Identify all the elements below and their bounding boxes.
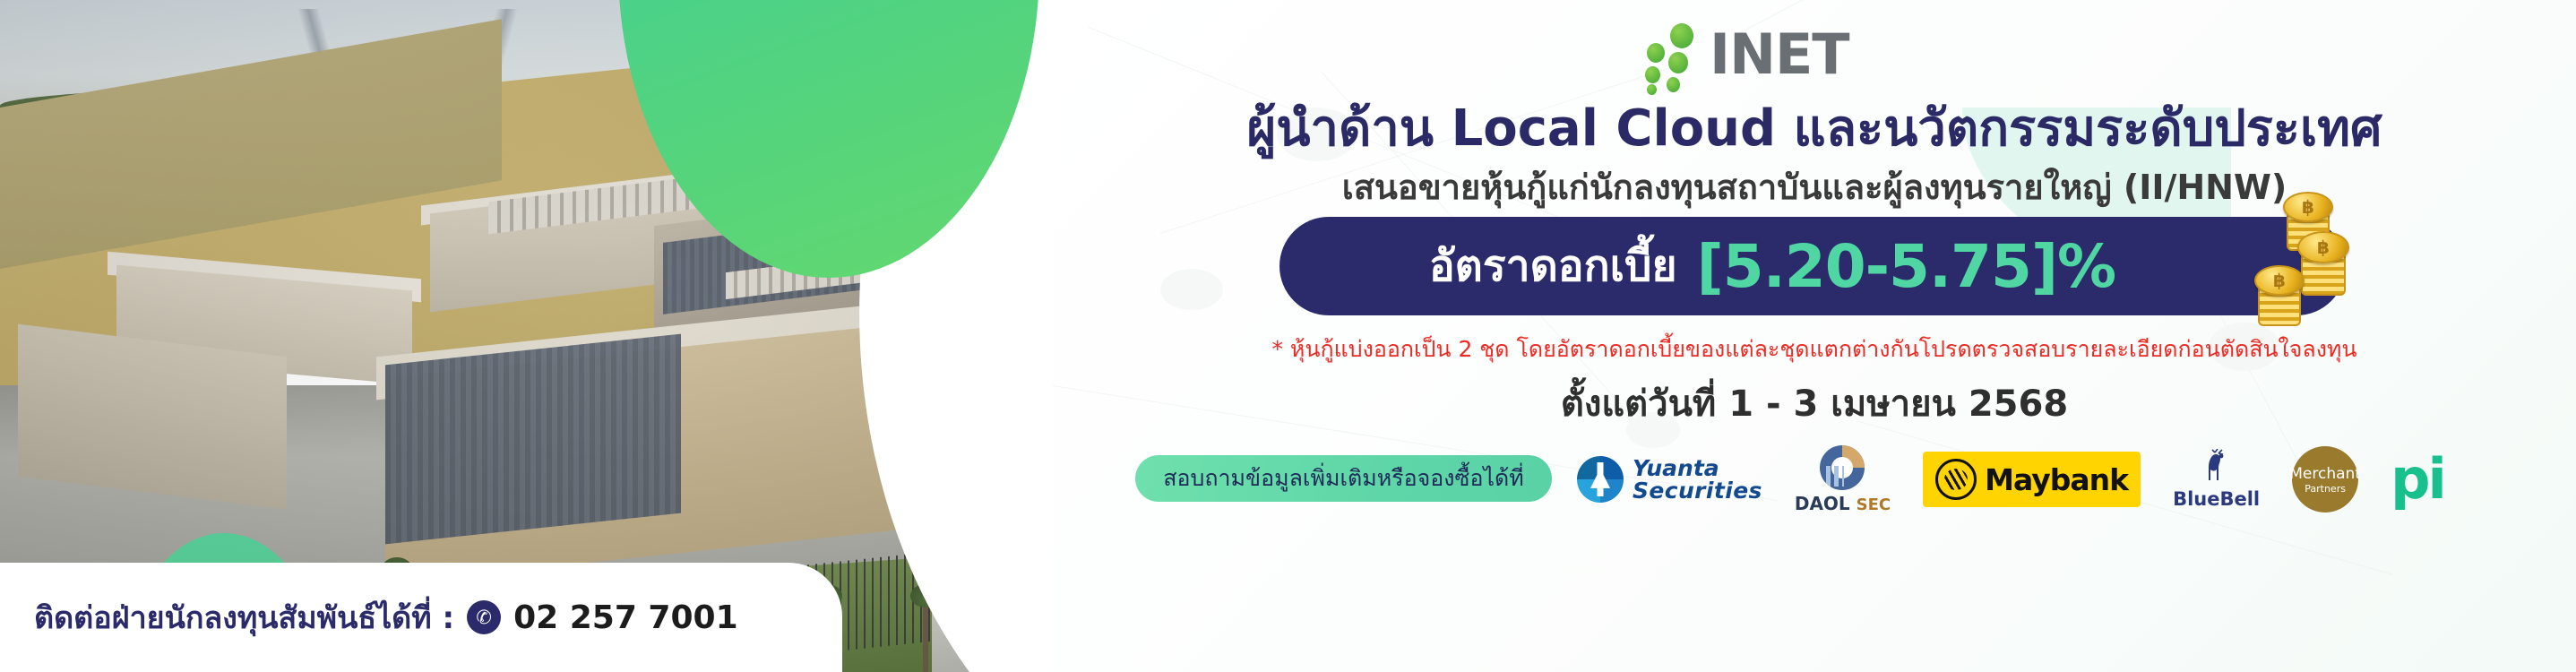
daol-circle-icon bbox=[1820, 445, 1865, 490]
partner-logo-yuanta[interactable]: Yuanta Securities bbox=[1577, 456, 1762, 503]
rate-label: อัตราดอกเบี้ย bbox=[1429, 232, 1677, 300]
maybank-tiger-icon bbox=[1935, 459, 1977, 500]
contact-card: ติดต่อฝ่ายนักลงทุนสัมพันธ์ได้ที่ : ✆ 02 … bbox=[0, 563, 842, 672]
daol-line2: SEC bbox=[1857, 495, 1891, 514]
phone-icon: ✆ bbox=[467, 600, 501, 634]
bluebell-deer-icon bbox=[2197, 449, 2236, 487]
partner-logo-pi[interactable]: pi bbox=[2391, 457, 2444, 502]
partner-logo-maybank[interactable]: Maybank bbox=[1923, 452, 2141, 507]
partner-logo-daol[interactable]: DAOL SEC bbox=[1795, 445, 1891, 514]
yuanta-line1: Yuanta bbox=[1633, 457, 1762, 479]
inet-bubbles-logo-icon bbox=[1631, 16, 1708, 86]
promotional-banner: INET ผู้นำด้าน Local Cloud และนวัตกรรมระ… bbox=[0, 0, 2576, 672]
partner-logo-merchant-partners[interactable]: Merchant Partners bbox=[2292, 446, 2358, 513]
interest-rate-badge: อัตราดอกเบี้ย [5.20-5.75]% ฿ ฿ ฿ bbox=[1279, 217, 2346, 315]
inet-logo: INET bbox=[1631, 16, 1926, 86]
offer-period: ตั้งแต่วันที่ 1 - 3 เมษายน 2568 bbox=[1053, 375, 2576, 432]
yuanta-star-icon bbox=[1577, 456, 1624, 503]
maybank-wordmark: Maybank bbox=[1985, 462, 2128, 497]
inquiry-cta-button[interactable]: สอบถามข้อมูลเพิ่มเติมหรือจองซื้อได้ที่ bbox=[1135, 455, 1552, 502]
partner-logo-bluebell[interactable]: BlueBell bbox=[2173, 449, 2260, 510]
daol-line1: DAOL bbox=[1795, 493, 1850, 514]
content-panel: INET ผู้นำด้าน Local Cloud และนวัตกรรมระ… bbox=[1053, 0, 2576, 672]
gold-coin-stack-icon: ฿ ฿ ฿ bbox=[2231, 192, 2365, 340]
inet-wordmark: INET bbox=[1710, 22, 1849, 87]
contact-phone-number[interactable]: 02 257 7001 bbox=[513, 599, 738, 636]
disclaimer-text: * หุ้นกู้แบ่งออกเป็น 2 ชุด โดยอัตราดอกเบ… bbox=[1053, 332, 2576, 367]
bluebell-wordmark: BlueBell bbox=[2173, 488, 2260, 510]
yuanta-line2: Securities bbox=[1633, 479, 1762, 502]
rate-value: [5.20-5.75]% bbox=[1697, 232, 2116, 301]
contact-label: ติดต่อฝ่ายนักลงทุนสัมพันธ์ได้ที่ : bbox=[34, 593, 454, 642]
partner-logo-row: Yuanta Securities DAOL SEC Maybank bbox=[1577, 430, 2531, 529]
merchant-line2: Partners bbox=[2305, 483, 2346, 495]
merchant-line1: Merchant bbox=[2289, 465, 2361, 483]
page-title: ผู้นำด้าน Local Cloud และนวัตกรรมระดับปร… bbox=[1053, 88, 2576, 168]
